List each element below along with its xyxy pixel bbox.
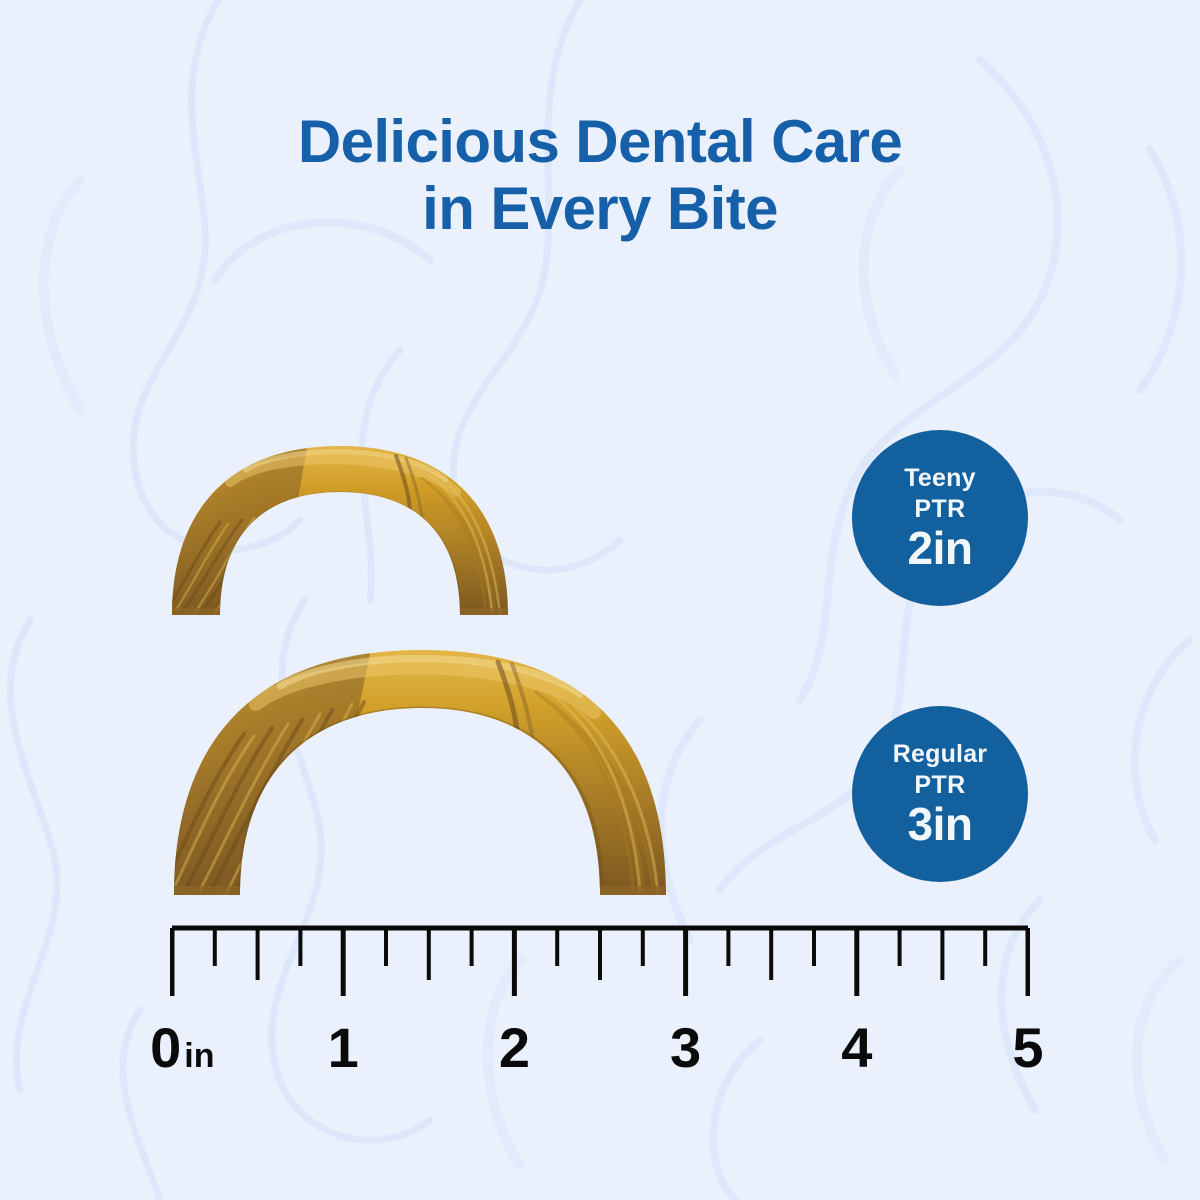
ruler-label-2: 2 bbox=[499, 1020, 530, 1076]
ruler-scale: 0in12345 bbox=[170, 925, 1030, 1070]
badge-name-teeny: Teeny bbox=[904, 466, 975, 491]
ruler-ticks bbox=[170, 925, 1030, 1015]
size-badge-teeny[interactable]: Teeny PTR 2in bbox=[852, 430, 1028, 606]
ruler-label-1: 1 bbox=[328, 1020, 359, 1076]
headline-line-2: in Every Bite bbox=[0, 175, 1200, 242]
size-badge-regular[interactable]: Regular PTR 3in bbox=[852, 706, 1028, 882]
badge-size-teeny: 2in bbox=[908, 525, 973, 571]
ruler-label-4: 4 bbox=[841, 1020, 872, 1076]
product-image-regular-ptr bbox=[160, 630, 680, 895]
product-image-teeny-ptr bbox=[160, 430, 520, 615]
ruler-label-0: 0in bbox=[150, 1020, 214, 1076]
page-title: Delicious Dental Care in Every Bite bbox=[0, 108, 1200, 242]
headline-line-1: Delicious Dental Care bbox=[0, 108, 1200, 175]
ruler-unit: in bbox=[184, 1037, 214, 1075]
badge-sub-regular: PTR bbox=[914, 773, 965, 798]
badge-size-regular: 3in bbox=[908, 801, 973, 847]
badge-name-regular: Regular bbox=[893, 742, 987, 767]
ruler-label-3: 3 bbox=[670, 1020, 701, 1076]
ruler-label-5: 5 bbox=[1012, 1020, 1043, 1076]
ruler-label-value: 0 bbox=[150, 1016, 181, 1079]
badge-sub-teeny: PTR bbox=[914, 497, 965, 522]
infographic-canvas: Delicious Dental Care in Every Bite bbox=[0, 0, 1200, 1200]
